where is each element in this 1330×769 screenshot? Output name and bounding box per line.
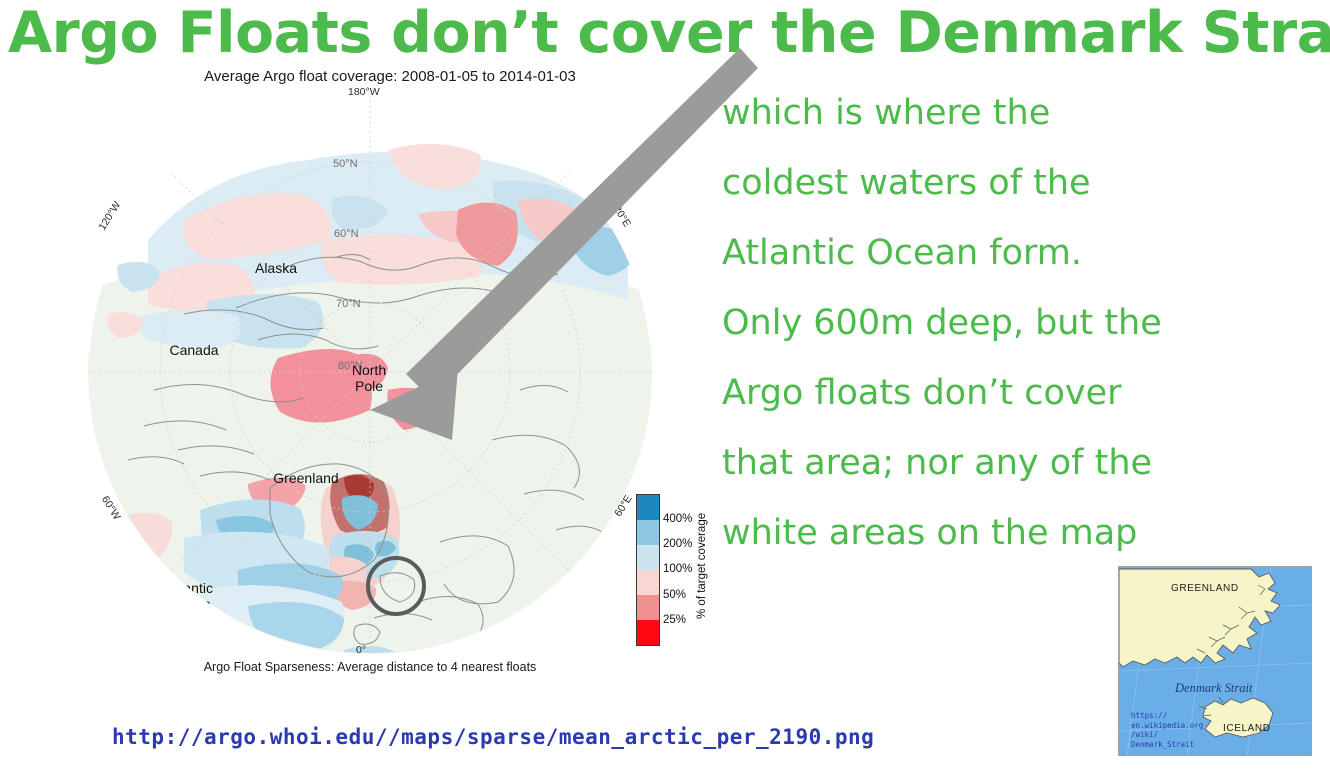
- inset-label-greenland: GREENLAND: [1171, 583, 1239, 594]
- inset-label-iceland: ICELAND: [1223, 723, 1271, 734]
- geo-label-alaska: Alaska: [226, 260, 326, 276]
- page-title: Argo Floats don’t cover the Denmark Stra…: [8, 2, 1328, 64]
- body-line-2: coldest waters of the: [722, 148, 1322, 218]
- colorbar-axis-label: % of target coverage: [694, 490, 710, 642]
- geo-label-north-pole: North Pole: [334, 362, 404, 394]
- coverage-colorbar: 400% 200% 100% 50% 25% % of target cover…: [636, 494, 716, 646]
- inset-label-denmark-strait: Denmark Strait: [1175, 681, 1252, 696]
- lat-label-70n: 70°N: [336, 298, 361, 310]
- polar-map-disc: 50°N 60°N 70°N 80°N Alaska Canada North …: [88, 90, 652, 654]
- lon-label-0: 0°: [356, 644, 366, 656]
- geo-label-canada: Canada: [144, 342, 244, 358]
- colorbar-tick-50: 50%: [663, 589, 686, 601]
- body-line-4: Only 600m deep, but the: [722, 288, 1322, 358]
- body-line-5: Argo floats don’t cover: [722, 358, 1322, 428]
- colorbar-tick-400: 400%: [663, 513, 692, 525]
- body-line-6: that area; nor any of the: [722, 428, 1322, 498]
- lon-label-180w: 180°W: [348, 86, 380, 98]
- denmark-strait-inset-map: GREENLAND Denmark Strait ICELAND https:/…: [1118, 566, 1312, 756]
- colorbar-tick-200: 200%: [663, 538, 692, 550]
- denmark-strait-highlight-circle: [366, 556, 426, 616]
- colorbar-tick-100: 100%: [663, 563, 692, 575]
- inset-source-url[interactable]: https:// en.wikipedia.org /wiki/ Denmark…: [1131, 711, 1203, 749]
- body-line-3: Atlantic Ocean form.: [722, 218, 1322, 288]
- colorbar-band-under-25: [637, 620, 659, 645]
- colorbar-band-200-400: [637, 520, 659, 545]
- slide-canvas: Argo Floats don’t cover the Denmark Stra…: [0, 0, 1330, 769]
- geo-label-greenland: Greenland: [246, 470, 366, 486]
- body-line-7: white areas on the map: [722, 498, 1322, 568]
- colorbar-band-50-100: [637, 570, 659, 595]
- colorbar-gradient: [636, 494, 660, 646]
- colorbar-band-400-plus: [637, 495, 659, 520]
- geo-label-atlantic-ocean: Atlantic Ocean: [140, 580, 240, 612]
- lat-label-60n: 60°N: [334, 228, 359, 240]
- figure-caption: Argo Float Sparseness: Average distance …: [60, 660, 680, 674]
- figure-title: Average Argo float coverage: 2008-01-05 …: [60, 68, 720, 85]
- lat-label-50n: 50°N: [333, 158, 358, 170]
- colorbar-band-100-200: [637, 545, 659, 570]
- source-url-link[interactable]: http://argo.whoi.edu//maps/sparse/mean_a…: [112, 725, 874, 749]
- body-line-1: which is where the: [722, 78, 1322, 148]
- colorbar-band-25-50: [637, 595, 659, 620]
- colorbar-tick-25: 25%: [663, 614, 686, 626]
- argo-coverage-figure: Average Argo float coverage: 2008-01-05 …: [60, 62, 720, 687]
- body-copy: which is where the coldest waters of the…: [722, 78, 1322, 568]
